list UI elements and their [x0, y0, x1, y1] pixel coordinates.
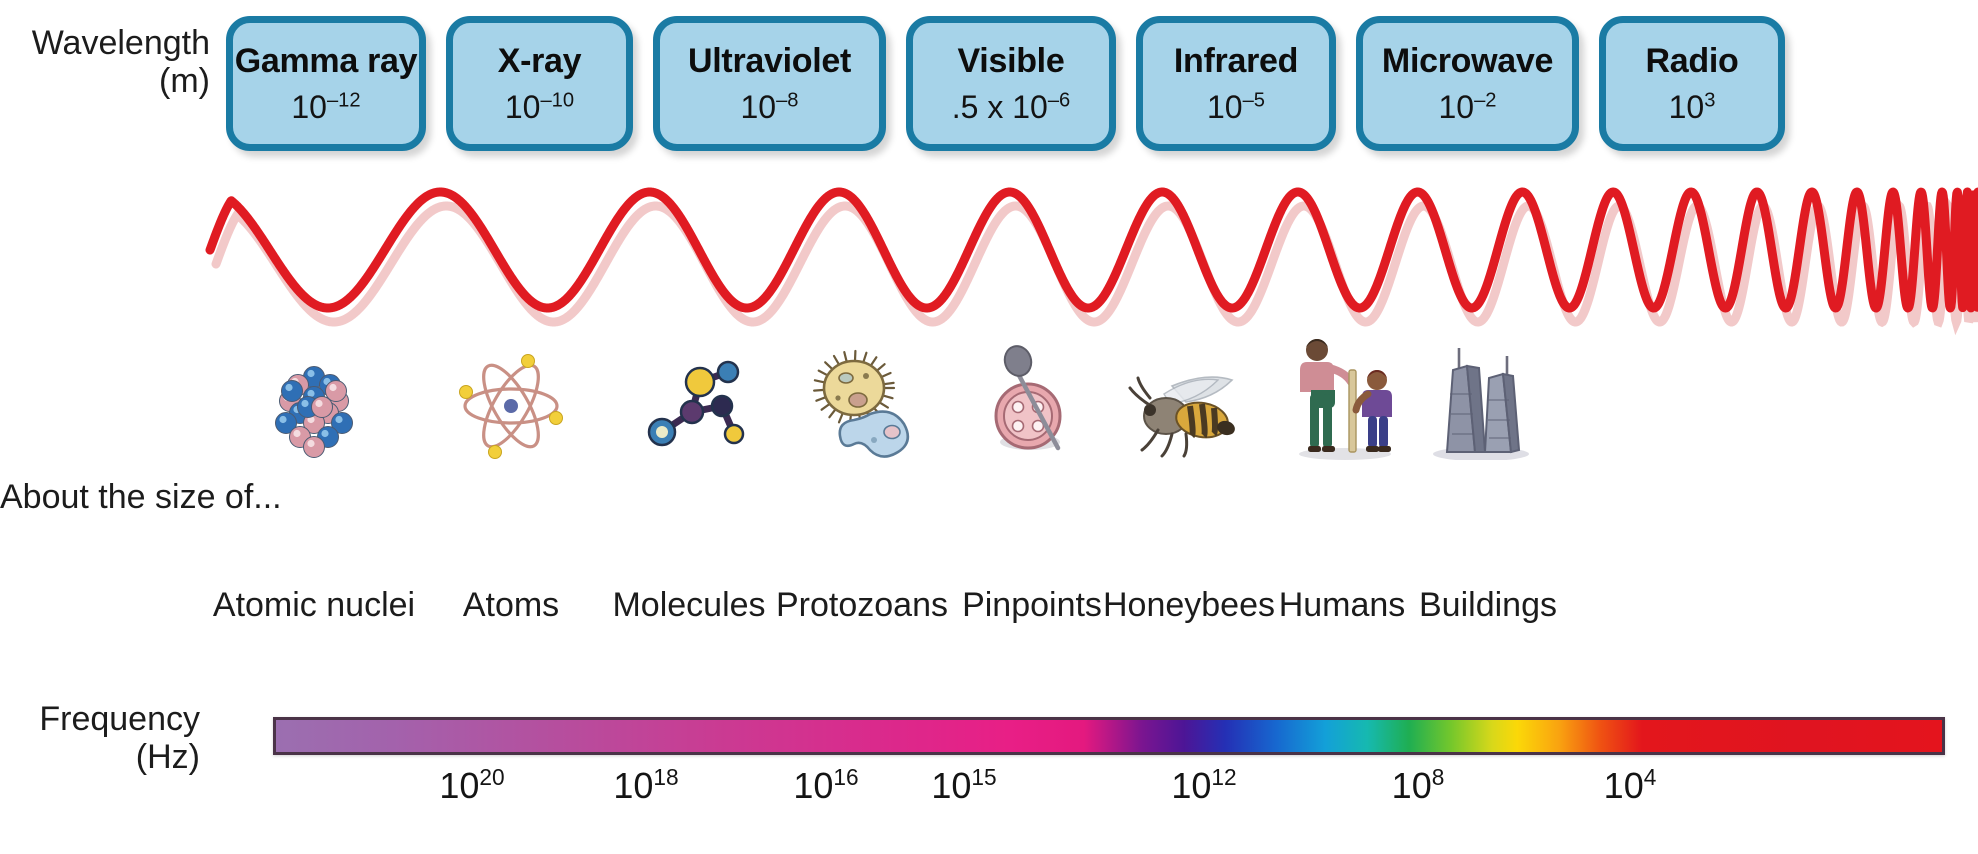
size-of-row-label: About the size of... [0, 478, 282, 516]
band-wavelength-value: 10–10 [505, 91, 574, 123]
frequency-tick-10e20: 1020 [439, 768, 504, 804]
band-name: Gamma ray [235, 44, 418, 78]
size-label-row: Atomic nucleiAtomsMoleculesProtozoansPin… [226, 588, 1966, 632]
size-label-protozoans: Protozoans [776, 588, 948, 622]
honeybee-icon [1120, 368, 1252, 460]
band-name: Microwave [1382, 44, 1553, 78]
band-wavelength-value: 10–5 [1207, 91, 1265, 123]
humans-icon [1283, 334, 1405, 460]
wavelength-row-label: Wavelength (m) [0, 24, 210, 100]
band-wavelength-value: 103 [1669, 91, 1716, 123]
size-label-atoms: Atoms [463, 588, 559, 622]
band-name: Radio [1646, 44, 1739, 78]
band-box-x-ray[interactable]: X-ray10–10 [446, 16, 633, 151]
band-box-gamma-ray[interactable]: Gamma ray10–12 [226, 16, 426, 151]
electromagnetic-wave [210, 178, 1978, 323]
band-name: Infrared [1174, 44, 1298, 78]
band-box-ultraviolet[interactable]: Ultraviolet10–8 [653, 16, 886, 151]
size-label-pinpoints: Pinpoints [962, 588, 1102, 622]
band-name: Visible [958, 44, 1065, 78]
frequency-tick-row: 10201018101610151012108104 [226, 768, 1966, 818]
molecule-icon [640, 350, 752, 460]
frequency-tick-10e15: 1015 [931, 768, 996, 804]
size-label-molecules: Molecules [612, 588, 765, 622]
band-box-radio[interactable]: Radio103 [1599, 16, 1785, 151]
band-name: X-ray [498, 44, 582, 78]
frequency-tick-10e4: 104 [1604, 768, 1657, 804]
size-label-buildings: Buildings [1419, 588, 1557, 622]
size-label-honeybees: Honeybees [1103, 588, 1275, 622]
size-icon-row [226, 330, 1966, 460]
size-label-atomic-nuclei: Atomic nuclei [213, 588, 415, 622]
atom-icon [452, 352, 570, 460]
band-wavelength-value: 10–2 [1438, 91, 1496, 123]
atomic-nucleus-icon [264, 355, 364, 460]
em-spectrum-diagram: Wavelength (m) About the size of... Freq… [0, 0, 1978, 854]
band-wavelength-value: .5 x 10–6 [952, 91, 1070, 123]
frequency-row-label: Frequency (Hz) [0, 700, 200, 776]
frequency-tick-10e16: 1016 [793, 768, 858, 804]
band-box-visible[interactable]: Visible.5 x 10–6 [906, 16, 1116, 151]
frequency-tick-10e8: 108 [1392, 768, 1445, 804]
band-wavelength-value: 10–8 [740, 91, 798, 123]
size-label-humans: Humans [1279, 588, 1406, 622]
band-name: Ultraviolet [688, 44, 851, 78]
frequency-tick-10e18: 1018 [613, 768, 678, 804]
frequency-spectrum-bar [273, 717, 1945, 755]
wavelength-band-row: Gamma ray10–12X-ray10–10Ultraviolet10–8V… [226, 16, 1966, 161]
band-box-microwave[interactable]: Microwave10–2 [1356, 16, 1579, 151]
pinpoint-icon [984, 344, 1088, 460]
frequency-tick-10e12: 1012 [1171, 768, 1236, 804]
buildings-icon [1423, 342, 1539, 460]
band-wavelength-value: 10–12 [291, 91, 360, 123]
band-box-infrared[interactable]: Infrared10–5 [1136, 16, 1336, 151]
protozoan-icon [808, 348, 934, 460]
